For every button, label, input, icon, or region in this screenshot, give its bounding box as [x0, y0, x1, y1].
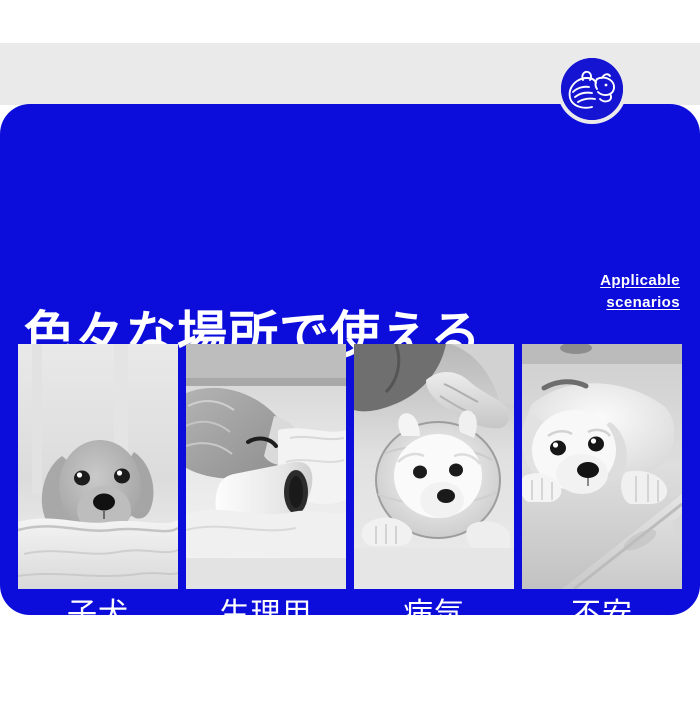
scenario-caption-1: 子犬 介護: [18, 596, 178, 702]
page-root: 色々な場所で使える Applicable scenarios: [0, 0, 700, 700]
scenario-caption-3: 病気 & 術後: [354, 596, 514, 702]
caption-line: 緊張: [522, 664, 682, 702]
caption-line: 不安: [522, 596, 682, 634]
scenario-photo-3: [354, 344, 514, 589]
caption-line: 病気: [354, 596, 514, 634]
scenario-photo-1: [18, 344, 178, 589]
scenario-caption-2: 生理用 & お産時: [186, 596, 346, 702]
caption-line: 生理用: [186, 596, 346, 634]
scenario-photo-2: [186, 344, 346, 589]
eyebrow-line-1: Applicable: [600, 270, 680, 292]
blue-content-card: 色々な場所で使える Applicable scenarios: [0, 104, 700, 615]
sad-puppy-on-floor-photo: [522, 344, 682, 589]
eyebrow-line-2: scenarios: [600, 292, 680, 314]
caption-line: お産時: [186, 664, 346, 702]
caption-line: 術後: [354, 664, 514, 702]
dog-with-cone-collar-photo: [354, 344, 514, 589]
caption-ampersand: &: [354, 634, 514, 664]
dog-resting-with-towel-photo: [186, 344, 346, 589]
caption-line: 介護: [18, 634, 178, 672]
scenario-caption-row: 子犬 介護 生理用 & お産時 病気 & 術後 不安 & 緊張: [18, 596, 682, 702]
scenario-caption-4: 不安 & 緊張: [522, 596, 682, 702]
caption-line: 子犬: [18, 596, 178, 634]
caption-ampersand: &: [186, 634, 346, 664]
hand-petting-dog-icon: [561, 58, 623, 120]
brand-logo-badge: [561, 58, 623, 120]
scenario-photo-strip: [18, 344, 682, 589]
puppy-in-blanket-photo: [18, 344, 178, 589]
eyebrow-label: Applicable scenarios: [600, 270, 680, 314]
caption-ampersand: &: [522, 634, 682, 664]
scenario-photo-4: [522, 344, 682, 589]
